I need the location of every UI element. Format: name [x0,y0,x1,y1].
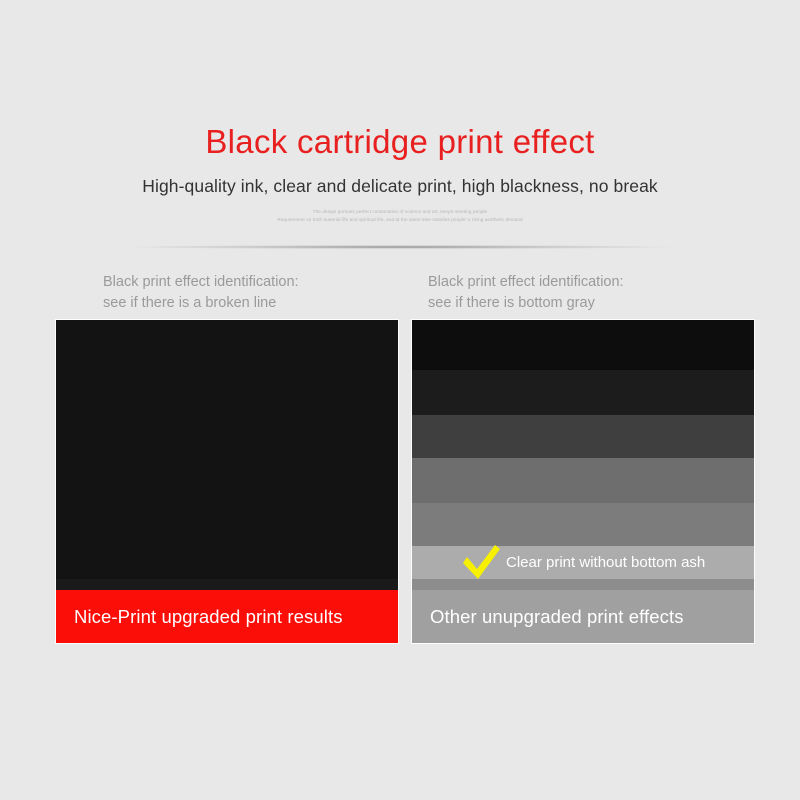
header-divider [130,245,670,249]
microcopy-line-2: Requirement on both material life and sp… [0,216,800,224]
poster-root: Black cartridge print effect High-qualit… [0,0,800,800]
microcopy-block: The design pursues perfect combination o… [0,197,800,224]
gray-band-2 [412,370,754,415]
header: Black cartridge print effect High-qualit… [0,0,800,224]
result-bar-right: Other unupgraded print effects [412,590,754,643]
page-subtitle: High-quality ink, clear and delicate pri… [0,160,800,197]
sample-panel-right: Clear print without bottom ash Other unu… [412,320,754,643]
gray-band-3 [412,415,754,458]
gray-band-5 [412,503,754,546]
microcopy-line-1: The design pursues perfect combination o… [0,208,800,216]
check-strip-right: Clear print without bottom ash [412,546,754,579]
yellow-check-icon [460,543,502,583]
page-title: Black cartridge print effect [0,0,800,160]
caption-right: Black print effect identification: see i… [428,272,624,313]
result-bar-left: Nice-Print upgraded print results [56,590,398,643]
caption-left: Black print effect identification: see i… [103,272,299,313]
sample-panel-left: Black enough without break Nice-Print up… [56,320,398,643]
gap-strip-left [56,579,398,590]
result-label-right: Other unupgraded print effects [430,606,684,628]
check-label-right: Clear print without bottom ash [506,554,705,571]
result-label-left: Nice-Print upgraded print results [74,606,343,628]
gap-strip-right [412,579,754,590]
gray-band-4 [412,458,754,503]
gray-band-1 [412,320,754,370]
